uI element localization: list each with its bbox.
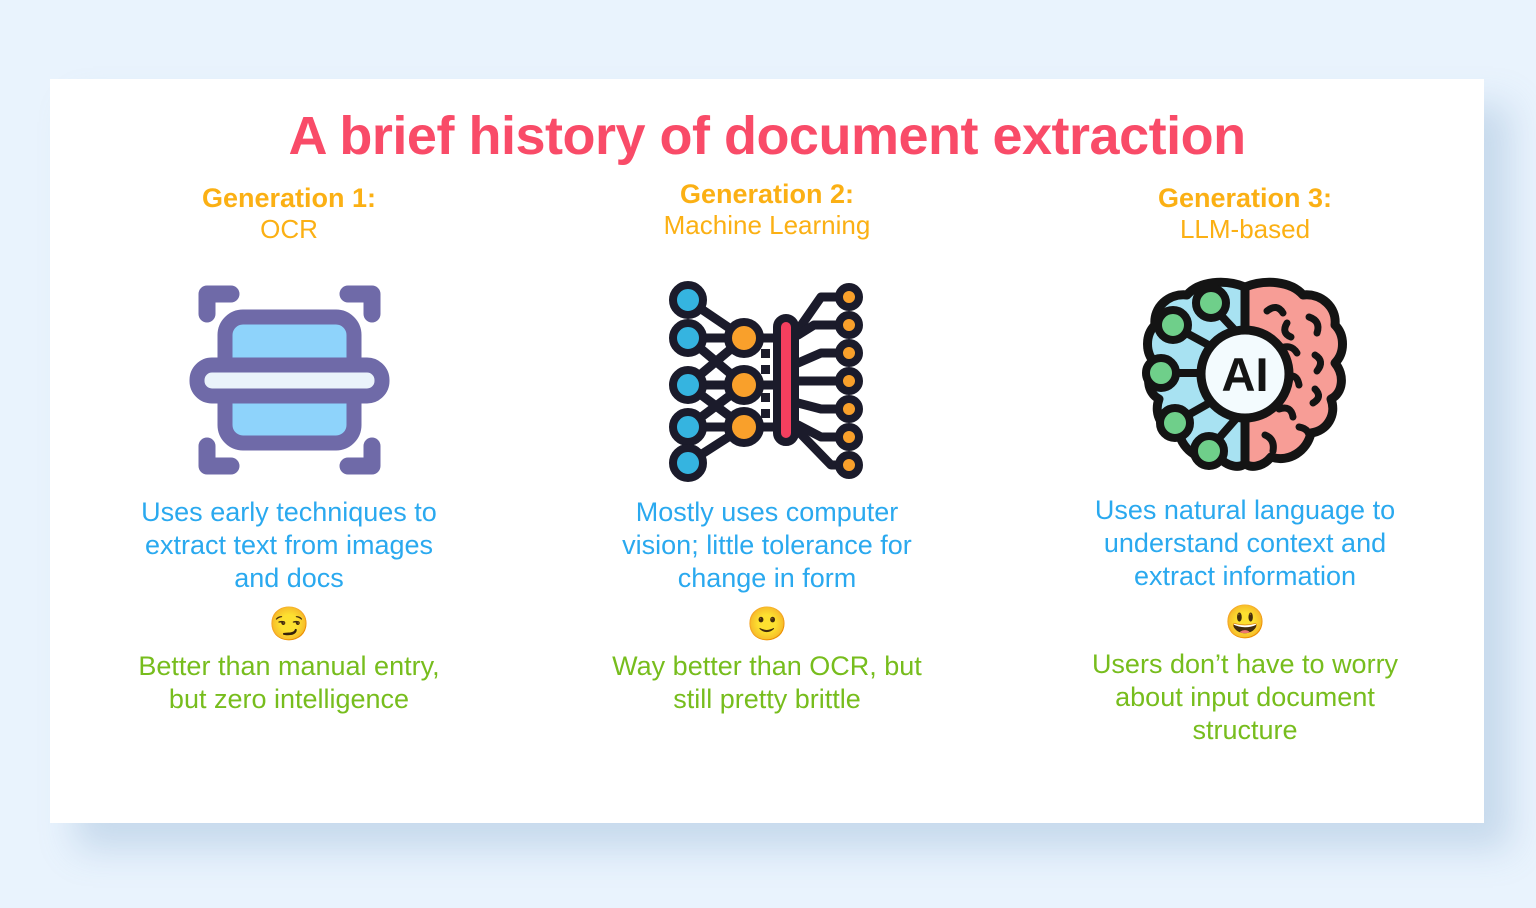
generation-icon-wrap-2 — [661, 264, 873, 496]
smirking-face-emoji: 😏 — [268, 607, 309, 640]
generation-heading-3: Generation 3: LLM-based — [1158, 183, 1332, 244]
infographic-card: A brief history of document extraction G… — [50, 79, 1484, 823]
generation-column-1: Generation 1: OCR U — [50, 183, 528, 747]
generation-column-3: Generation 3: LLM-based — [1006, 183, 1484, 747]
generation-column-2: Generation 2: Machine Learning — [528, 179, 1006, 747]
generation-label-1: Generation 1: — [202, 183, 376, 214]
generation-description-2: Mostly uses computer vision; little tole… — [602, 496, 932, 595]
ai-brain-icon: AI — [1139, 273, 1351, 483]
neural-output-nodes — [839, 287, 859, 475]
generation-description-1: Uses early techniques to extract text fr… — [124, 496, 454, 595]
generation-heading-2: Generation 2: Machine Learning — [664, 179, 871, 240]
generation-name-2: Machine Learning — [664, 210, 871, 240]
slightly-smiling-face-emoji: 🙂 — [746, 607, 787, 640]
generation-name-3: LLM-based — [1158, 214, 1332, 244]
generation-heading-1: Generation 1: OCR — [202, 183, 376, 244]
generation-verdict-3: Users don’t have to worry about input do… — [1085, 648, 1405, 747]
page-title: A brief history of document extraction — [50, 105, 1484, 167]
generation-label-2: Generation 2: — [664, 179, 871, 210]
generations-row: Generation 1: OCR U — [50, 183, 1484, 747]
generation-verdict-2: Way better than OCR, but still pretty br… — [607, 650, 927, 716]
generation-label-3: Generation 3: — [1158, 183, 1332, 214]
document-scanner-icon — [187, 274, 392, 486]
generation-verdict-1: Better than manual entry, but zero intel… — [129, 650, 449, 716]
generation-icon-wrap-1 — [187, 264, 392, 496]
neural-hidden-nodes — [728, 322, 760, 443]
neural-activation-bar — [777, 318, 795, 442]
generation-description-3: Uses natural language to understand cont… — [1075, 494, 1415, 593]
generation-icon-wrap-3: AI — [1139, 262, 1351, 494]
neural-network-icon — [661, 275, 873, 485]
ai-badge-label: AI — [1222, 348, 1269, 401]
grinning-face-emoji: 😃 — [1224, 605, 1265, 638]
generation-name-1: OCR — [202, 214, 376, 244]
infographic-stage: A brief history of document extraction G… — [0, 0, 1536, 908]
neural-input-nodes — [673, 285, 703, 478]
